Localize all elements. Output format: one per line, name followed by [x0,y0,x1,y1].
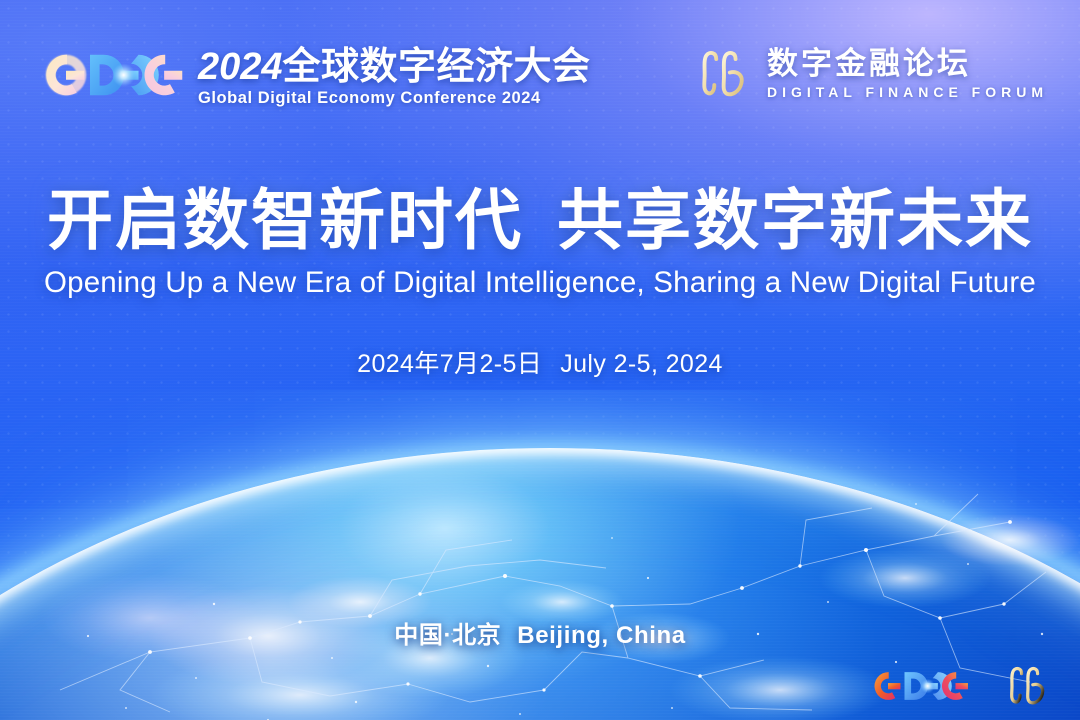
forum-title-cn: 数字金融论坛 [767,48,971,81]
poster-header: 2024全球数字经济大会 Global Digital Economy Conf… [0,0,1080,150]
forum-text-block: 数字金融论坛 DIGITAL FINANCE FORUM [767,48,1048,100]
forum-title-en: DIGITAL FINANCE FORUM [767,84,1048,100]
conference-title-cn-rest: 全球数字经济大会 [283,46,591,88]
slogan-cn: 开启数智新时代共享数字新未来 [0,184,1080,258]
event-date-cn: 2024年7月2-5日 [357,350,542,378]
conference-title-en: Global Digital Economy Conference 2024 [198,89,591,108]
gdec-logo [34,48,194,102]
gdec-logo-footer [866,666,976,706]
event-date-en: July 2-5, 2024 [560,350,723,378]
ff-monogram-icon-footer [1002,664,1054,708]
conference-poster: 2024全球数字经济大会 Global Digital Economy Conf… [0,0,1080,720]
slogan-cn-part-2: 共享数字新未来 [557,183,1033,257]
slogan-cn-part-1: 开启数智新时代 [47,183,523,257]
event-date: 2024年7月2-5日July 2-5, 2024 [0,344,1080,380]
slogan-en: Opening Up a New Era of Digital Intellig… [0,266,1080,300]
conference-title-block: 2024全球数字经济大会 Global Digital Economy Conf… [198,48,591,108]
ff-monogram-icon [695,46,753,102]
conference-title-cn: 2024全球数字经济大会 [198,48,591,87]
event-location-cn: 中国·北京 [394,622,501,649]
conference-year: 2024 [198,46,283,88]
event-location-en: Beijing, China [517,622,685,649]
digital-finance-forum-logo: 数字金融论坛 DIGITAL FINANCE FORUM [695,46,1048,102]
footer-logos [866,664,1054,708]
event-location: 中国·北京Beijing, China [0,615,1080,650]
poster-main: 开启数智新时代共享数字新未来 Opening Up a New Era of D… [0,184,1080,380]
